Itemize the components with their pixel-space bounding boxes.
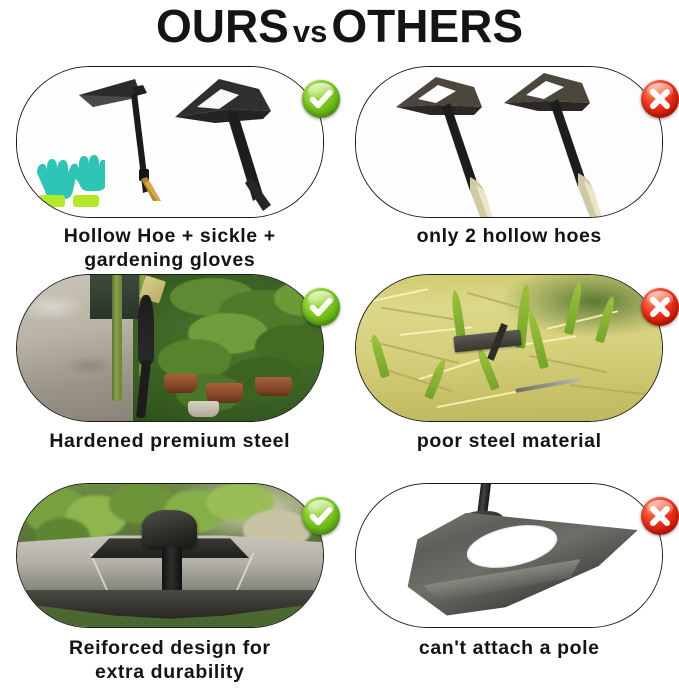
title-others: OTHERS bbox=[331, 0, 523, 52]
cross-mark-icon bbox=[641, 497, 679, 535]
frame-wrap-others-2 bbox=[355, 274, 663, 422]
photo-frame-ours-1 bbox=[16, 66, 324, 218]
photo-tools-and-gloves bbox=[17, 67, 323, 217]
cross-mark-icon bbox=[641, 288, 679, 326]
caption-ours-1: Hollow Hoe + sickle + gardening gloves bbox=[0, 224, 340, 272]
frame-wrap-ours-1 bbox=[16, 66, 324, 218]
photo-frame-others-3 bbox=[355, 483, 663, 628]
check-mark-icon bbox=[302, 497, 340, 535]
photo-dry-grass-broken-tool bbox=[356, 275, 662, 421]
frame-wrap-ours-2 bbox=[16, 274, 324, 422]
check-mark-icon bbox=[302, 80, 340, 118]
cell-ours-3: Reiforced design for extra durability bbox=[0, 475, 340, 690]
gardening-gloves-illustration bbox=[31, 151, 105, 211]
page-title: OURSvsOTHERS bbox=[156, 3, 523, 55]
frame-wrap-others-1 bbox=[355, 66, 663, 218]
photo-frame-others-2 bbox=[355, 274, 663, 422]
photo-frame-ours-3 bbox=[16, 483, 324, 628]
comparison-row-2: Hardened premium steel bbox=[0, 268, 679, 475]
cross-mark-icon bbox=[641, 80, 679, 118]
caption-others-3: can't attach a pole bbox=[340, 636, 679, 660]
caption-others-1: only 2 hollow hoes bbox=[340, 224, 679, 248]
two-hoes-illustration bbox=[356, 67, 663, 218]
caption-ours-3: Reiforced design for extra durability bbox=[0, 636, 340, 684]
comparison-row-3: Reiforced design for extra durability bbox=[0, 475, 679, 690]
photo-garden-plants bbox=[17, 275, 323, 421]
title-ours: OURS bbox=[156, 0, 289, 52]
photo-frame-others-1 bbox=[355, 66, 663, 218]
photo-blade-no-pole bbox=[356, 484, 662, 627]
comparison-row-1: Hollow Hoe + sickle + gardening gloves bbox=[0, 58, 679, 268]
comparison-grid: Hollow Hoe + sickle + gardening gloves bbox=[0, 58, 679, 690]
caption-others-2: poor steel material bbox=[340, 429, 679, 453]
cell-ours-2: Hardened premium steel bbox=[0, 268, 340, 475]
photo-two-hollow-hoes bbox=[356, 67, 662, 217]
frame-wrap-ours-3 bbox=[16, 483, 324, 628]
photo-reinforced-socket bbox=[17, 484, 323, 627]
photo-frame-ours-2 bbox=[16, 274, 324, 422]
infographic-sheet: OURSvsOTHERS bbox=[0, 0, 679, 690]
frame-wrap-others-3 bbox=[355, 483, 663, 628]
sickle-illustration bbox=[167, 71, 287, 211]
title-vs: vs bbox=[289, 14, 331, 49]
cell-others-2: poor steel material bbox=[340, 268, 679, 475]
title-bar: OURSvsOTHERS bbox=[0, 0, 679, 58]
cell-others-1: only 2 hollow hoes bbox=[340, 58, 679, 268]
caption-ours-2: Hardened premium steel bbox=[0, 429, 340, 453]
cell-ours-1: Hollow Hoe + sickle + gardening gloves bbox=[0, 58, 340, 268]
cell-others-3: can't attach a pole bbox=[340, 475, 679, 690]
check-mark-icon bbox=[302, 288, 340, 326]
